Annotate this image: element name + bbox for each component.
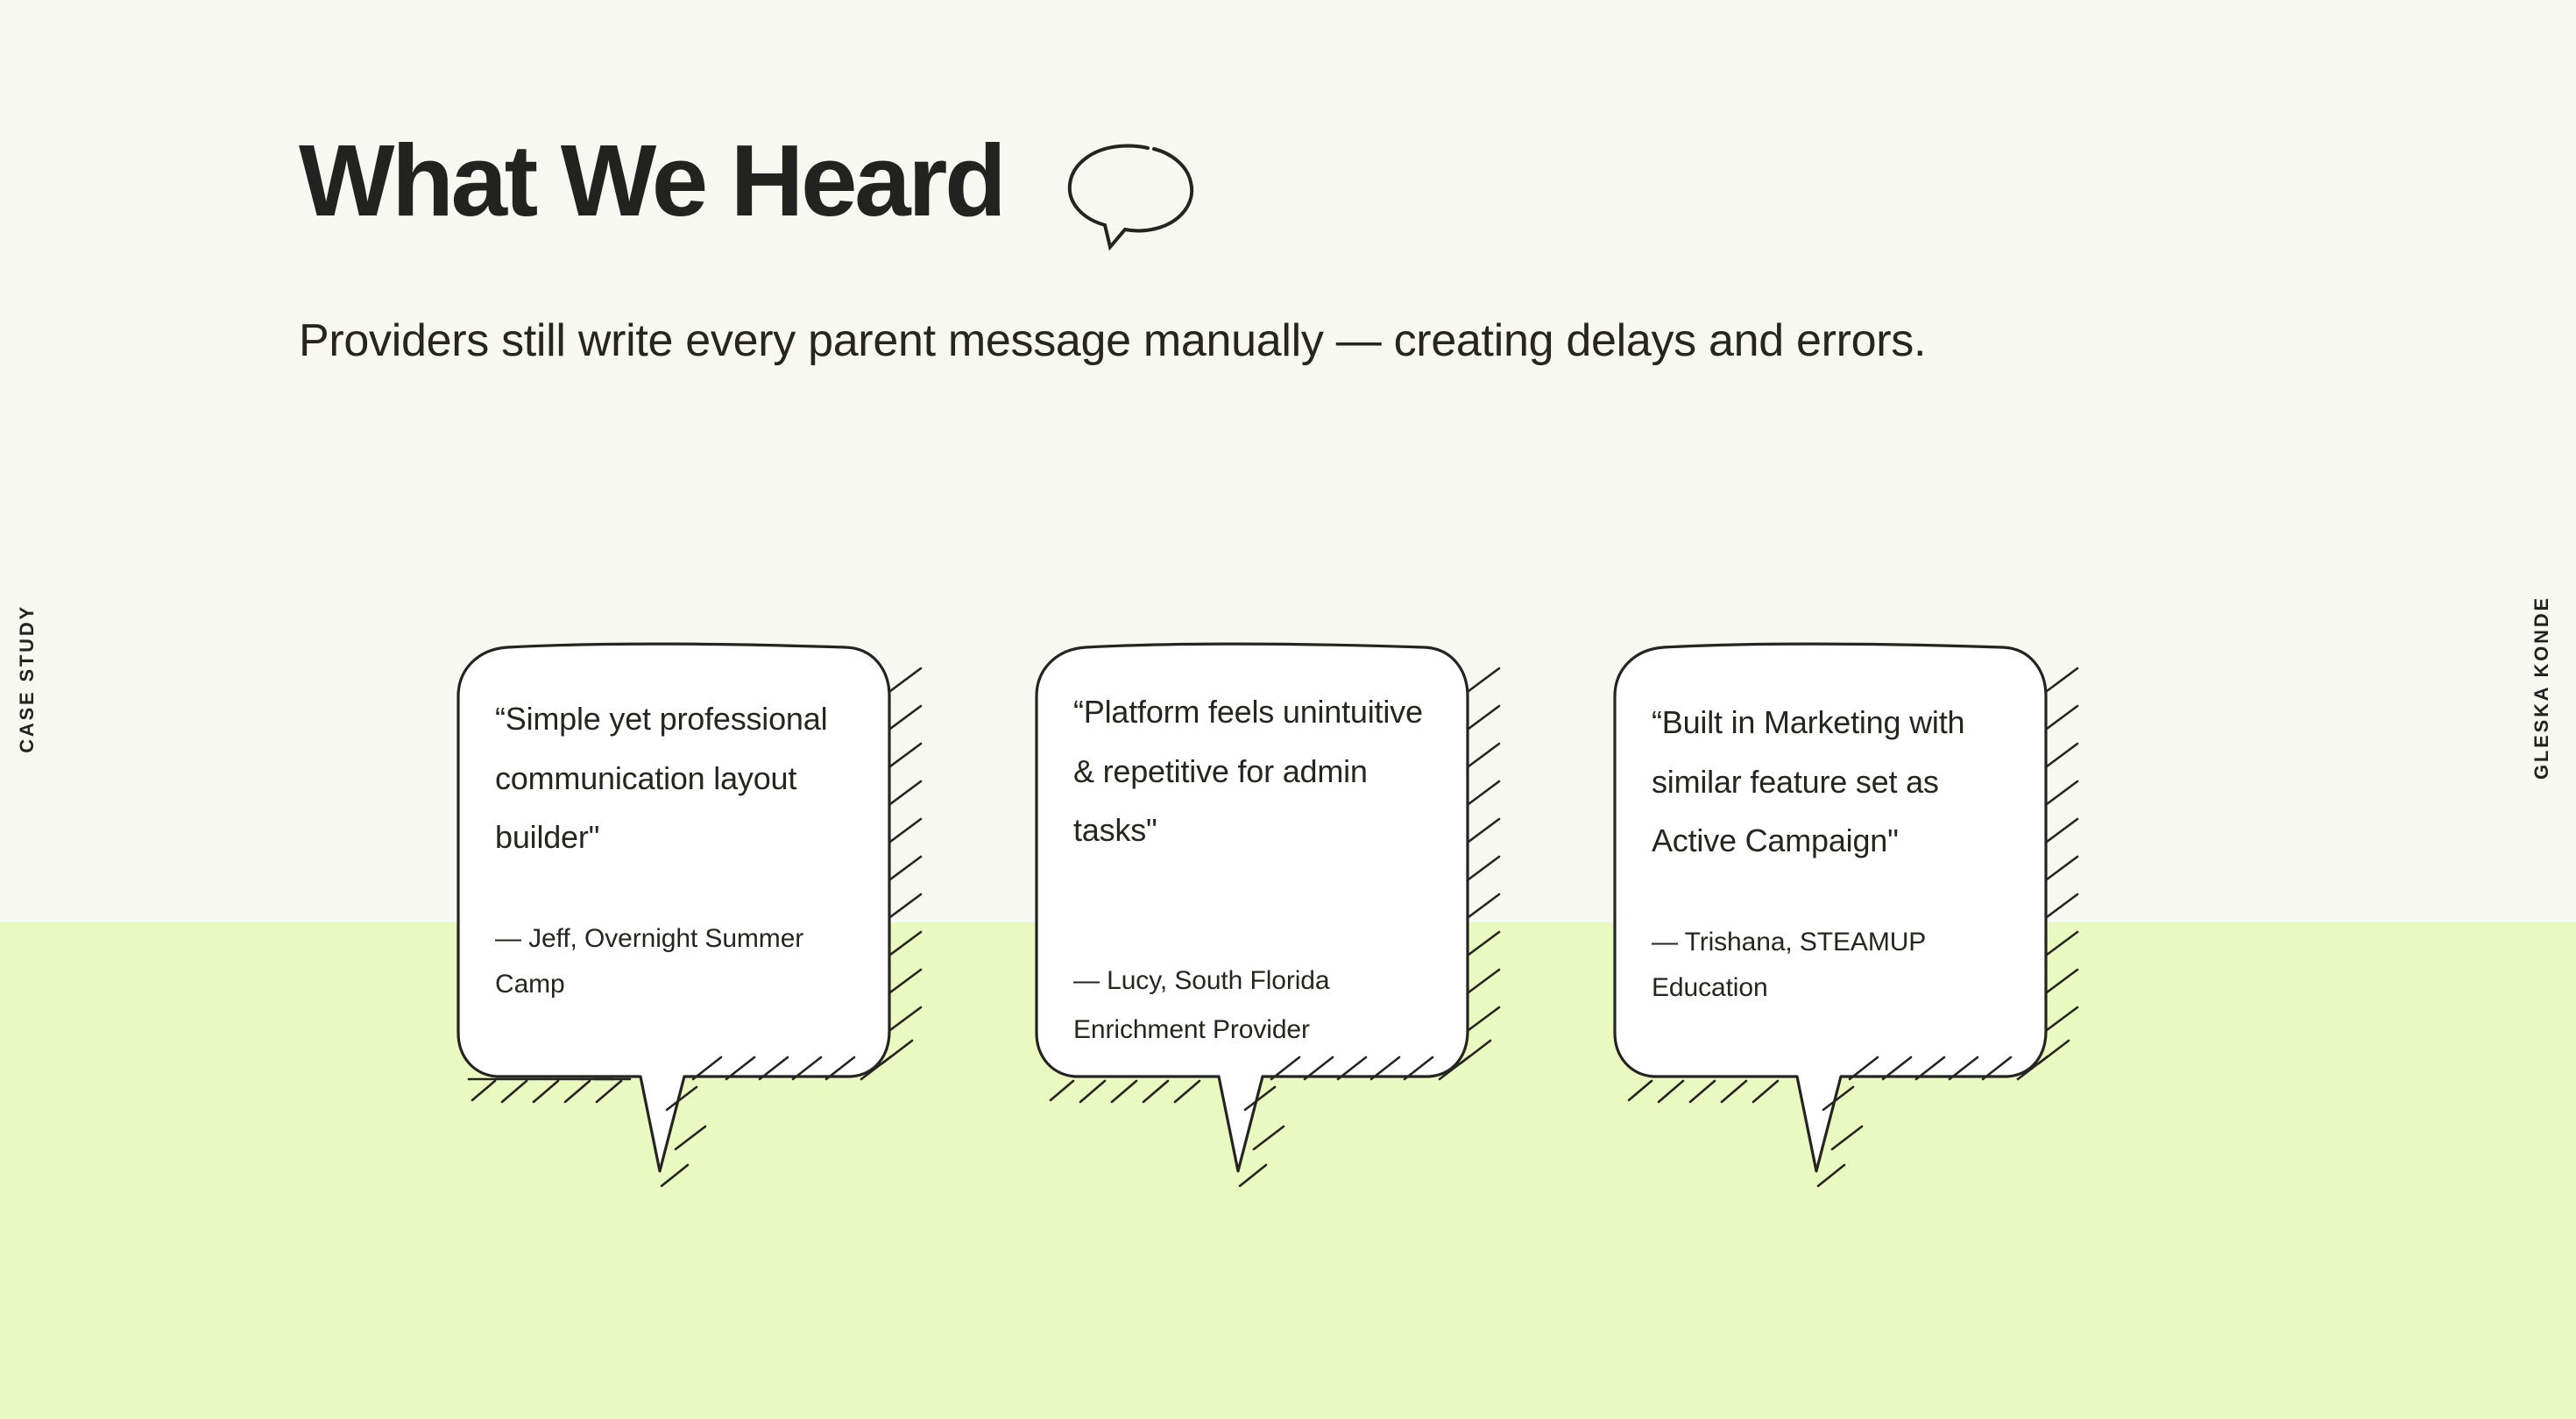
quote-card[interactable]: “Built in Marketing with similar feature…: [1613, 644, 2046, 1084]
quote-card[interactable]: “Simple yet professional communication l…: [456, 644, 889, 1084]
slide-canvas: CASE STUDY GLESKA KONDE What We Heard Pr…: [0, 0, 2576, 1419]
page-subtitle: Providers still write every parent messa…: [299, 311, 2139, 372]
card-attribution: — Trishana, STEAMUP Education: [1652, 920, 2007, 1010]
quote-card[interactable]: “Platform feels unintuitive & repetitive…: [1035, 644, 1468, 1084]
card-attribution: — Jeff, Overnight Summer Camp: [495, 916, 851, 1006]
page-title: What We Heard: [299, 130, 1003, 231]
card-attribution-wrap: — Trishana, STEAMUP Education: [1652, 920, 2007, 1010]
side-label-brand: GLESKA KONDE: [2530, 596, 2553, 780]
card-text-block: “Simple yet professional communication l…: [456, 644, 889, 1084]
card-quote: “Platform feels unintuitive & repetitive…: [1073, 682, 1429, 860]
card-attribution-wrap: — Lucy, South Florida Enrichment Provide…: [1073, 957, 1429, 1055]
card-quote: “Built in Marketing with similar feature…: [1652, 693, 2007, 871]
card-text-block: “Built in Marketing with similar feature…: [1613, 644, 2046, 1084]
card-attribution: — Lucy, South Florida Enrichment Provide…: [1073, 957, 1429, 1055]
card-text-block: “Platform feels unintuitive & repetitive…: [1035, 644, 1468, 1084]
side-label-case-study: CASE STUDY: [16, 604, 39, 753]
card-attribution-wrap: — Jeff, Overnight Summer Camp: [495, 916, 851, 1006]
card-quote: “Simple yet professional communication l…: [495, 689, 851, 867]
header-row: What We Heard: [299, 130, 1208, 255]
speech-bubble-icon: [1042, 137, 1208, 255]
